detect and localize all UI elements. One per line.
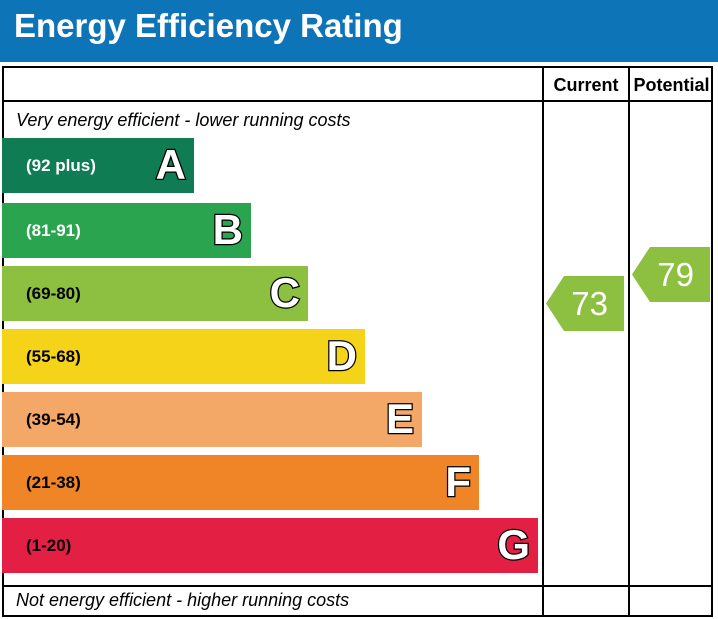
energy-efficiency-rating-chart: Energy Efficiency Rating Current Potenti…: [0, 0, 718, 619]
page-title: Energy Efficiency Rating: [14, 7, 403, 45]
potential-column-header: Potential: [630, 72, 713, 98]
band-range-label: (55-68): [26, 347, 81, 367]
band-range-label: (21-38): [26, 473, 81, 493]
band-e: (39-54)E: [2, 392, 422, 447]
band-b: (81-91)B: [2, 203, 251, 258]
band-range-label: (39-54): [26, 410, 81, 430]
rating-value-potential: 79: [657, 258, 710, 291]
band-range-label: (1-20): [26, 536, 71, 556]
band-letter-f: F: [445, 461, 471, 503]
current-column-header: Current: [544, 72, 628, 98]
rating-value-current: 73: [571, 287, 624, 320]
band-d: (55-68)D: [2, 329, 365, 384]
band-c: (69-80)C: [2, 266, 308, 321]
header-row-divider: [2, 100, 713, 102]
band-letter-b: B: [213, 209, 243, 251]
band-range-label: (92 plus): [26, 156, 96, 176]
band-range-label: (81-91): [26, 221, 81, 241]
band-letter-c: C: [270, 272, 300, 314]
caption-top: Very energy efficient - lower running co…: [16, 110, 351, 131]
band-letter-e: E: [386, 398, 414, 440]
band-g: (1-20)G: [2, 518, 538, 573]
band-letter-d: D: [327, 335, 357, 377]
band-range-label: (69-80): [26, 284, 81, 304]
band-a: (92 plus)A: [2, 138, 194, 193]
potential-column-divider: [628, 66, 630, 617]
band-f: (21-38)F: [2, 455, 479, 510]
title-banner: Energy Efficiency Rating: [0, 0, 718, 62]
band-letter-g: G: [497, 524, 530, 566]
footer-row-divider: [2, 585, 713, 587]
band-letter-a: A: [156, 144, 186, 186]
caption-bottom: Not energy efficient - higher running co…: [16, 590, 349, 611]
current-column-divider: [542, 66, 544, 617]
